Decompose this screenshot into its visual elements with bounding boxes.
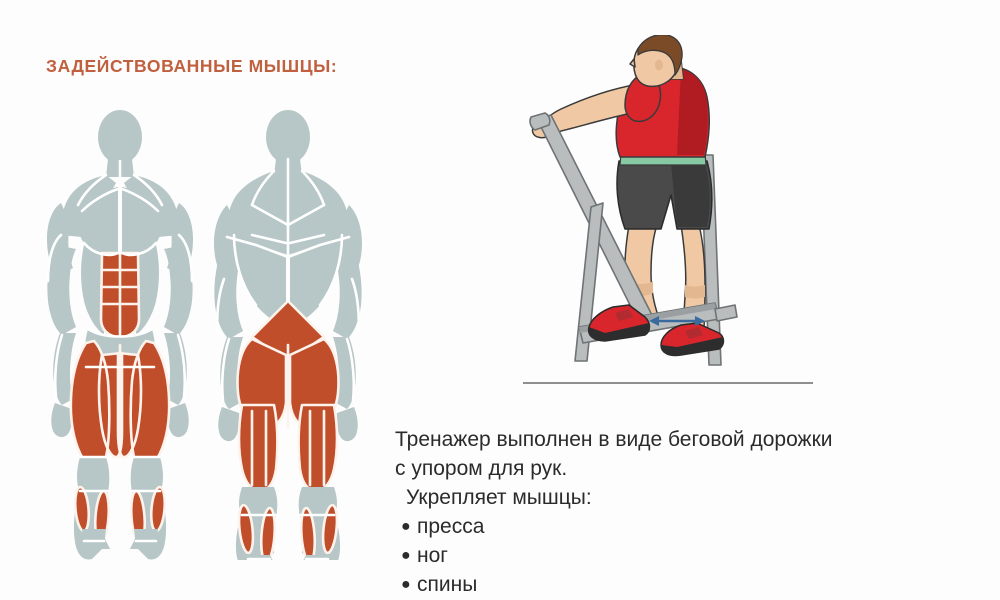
description-line-2: с упором для рук. <box>395 454 985 483</box>
list-item-label: пресса <box>417 515 484 538</box>
front-left-hand <box>51 403 72 437</box>
back-left-hand <box>218 407 239 441</box>
front-abdominals-highlight <box>101 253 139 337</box>
front-left-biceps <box>47 245 76 335</box>
muscle-map-panel: .bs{fill:#b7c6c6;} .hl{fill:#c14e2a;} .l… <box>40 105 380 560</box>
front-right-biceps <box>164 245 193 335</box>
list-item: ● пресса <box>395 512 985 541</box>
bullet-icon: ● <box>401 541 411 570</box>
shorts-shadow <box>671 163 710 227</box>
ear <box>655 60 663 71</box>
nose <box>630 59 635 67</box>
description-line-1: Тренажер выполнен в виде беговой дорожки <box>395 425 985 454</box>
bullet-icon: ● <box>401 512 411 541</box>
description-block: Тренажер выполнен в виде беговой дорожки… <box>395 425 985 599</box>
list-item: ● спины <box>395 570 985 599</box>
muscle-map-svg: .bs{fill:#b7c6c6;} .hl{fill:#c14e2a;} .l… <box>40 105 380 560</box>
bullet-icon: ● <box>401 570 411 599</box>
back-view-figure <box>214 110 362 560</box>
front-quadriceps-highlight <box>71 341 169 467</box>
back-right-hand <box>337 407 358 441</box>
shirt-shadow <box>677 69 708 155</box>
rear-knee-shade <box>685 285 705 299</box>
front-right-hand <box>168 403 189 437</box>
treadmill-exercise-illustration: .sk{fill:#f0c9a4;stroke:#3a3a3a;stroke-w… <box>505 35 845 400</box>
page-title: ЗАДЕЙСТВОВАННЫЕ МЫШЦЫ: <box>46 56 337 77</box>
list-item: ● ног <box>395 541 985 570</box>
list-item-label: спины <box>417 573 477 596</box>
list-item-label: ног <box>417 544 448 567</box>
treadmill-svg: .sk{fill:#f0c9a4;stroke:#3a3a3a;stroke-w… <box>505 35 845 400</box>
back-head <box>266 110 310 164</box>
description-subheading: Укрепляет мышцы: <box>395 483 985 512</box>
infographic-canvas: ЗАДЕЙСТВОВАННЫЕ МЫШЦЫ: .bs{fill:#b7c6c6;… <box>0 0 1000 600</box>
front-view-figure <box>47 110 193 560</box>
person-figure <box>532 35 711 339</box>
muscle-bullet-list: ● пресса ● ног ● спины <box>395 512 985 599</box>
front-head <box>98 110 142 164</box>
